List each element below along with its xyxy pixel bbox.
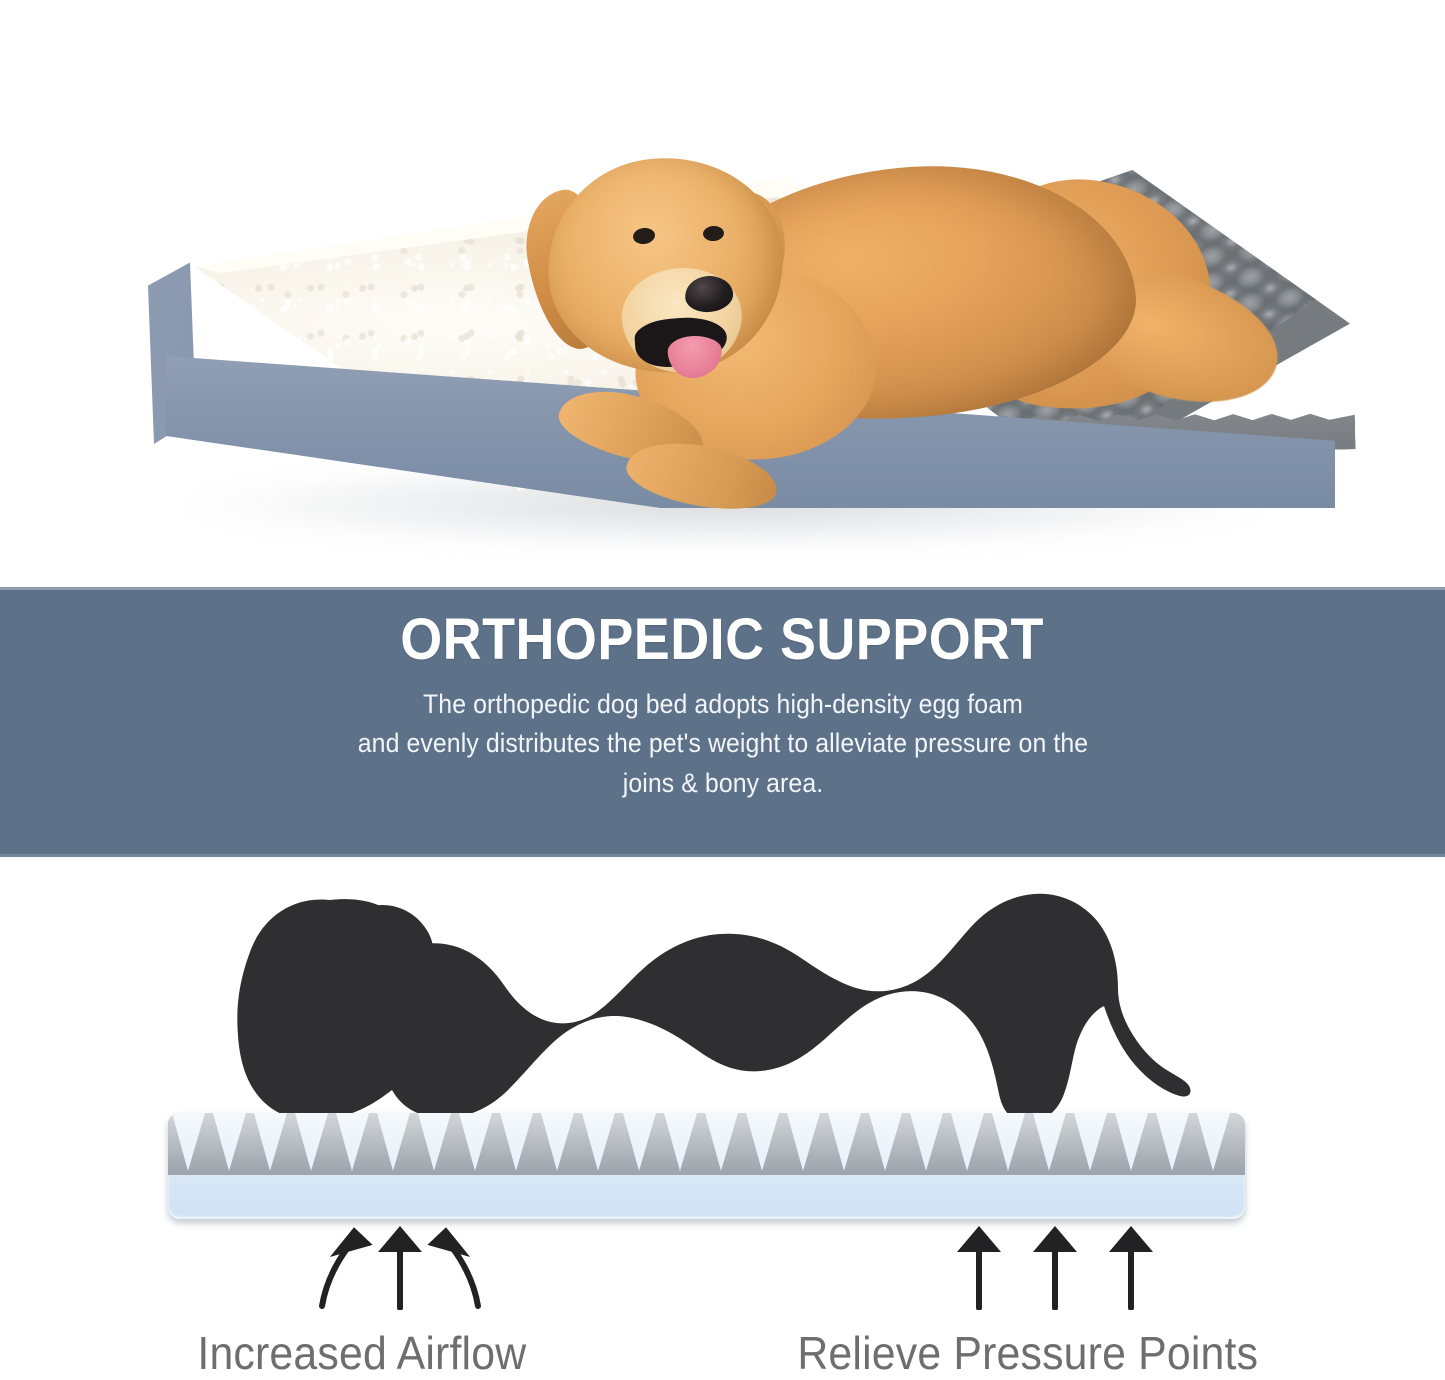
golden-retriever-photo [430,150,1210,510]
dog-silhouette-svg [0,860,1445,1150]
airflow-pressure-diagram: Increased Airflow Relieve Pressure Point… [0,860,1445,1364]
airflow-arrows [300,1220,500,1310]
banner-body-line-2: and evenly distributes the pet's weight … [357,724,1087,763]
dog-silhouette [0,860,1445,1150]
banner-body-line-3: joins & bony area. [357,764,1087,803]
orthopedic-support-banner: ORTHOPEDIC SUPPORT The orthopedic dog be… [0,587,1445,857]
pressure-arrows [955,1220,1155,1310]
banner-body-text: The orthopedic dog bed adopts high-densi… [357,685,1087,803]
airflow-arrows-svg [300,1220,500,1310]
mattress-slab [168,1113,1245,1219]
foam-teeth-svg [168,1113,1245,1175]
foam-teeth-row [168,1113,1245,1175]
label-relieve-pressure-points: Relieve Pressure Points [797,1326,1258,1380]
pressure-arrows-svg [955,1220,1155,1310]
product-hero-photo: Taul [0,0,1445,587]
banner-body-line-1: The orthopedic dog bed adopts high-densi… [357,685,1087,724]
banner-title: ORTHOPEDIC SUPPORT [401,611,1045,669]
label-increased-airflow: Increased Airflow [197,1326,526,1380]
dog-bed-illustration: Taul [130,160,1340,560]
